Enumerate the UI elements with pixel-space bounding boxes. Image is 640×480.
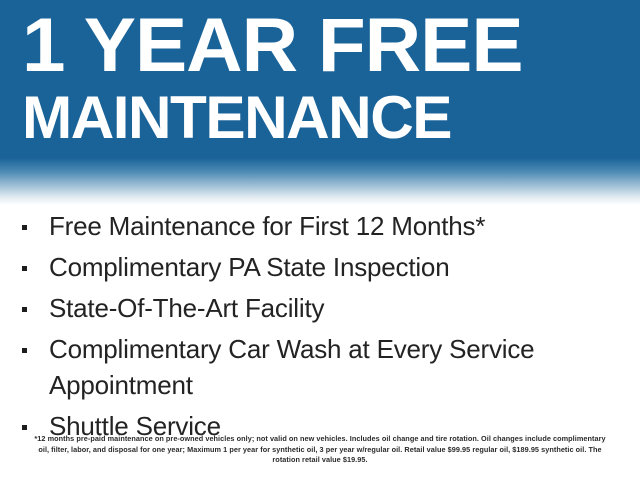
disclaimer-fine-print: *12 months pre-paid maintenance on pre-o…: [0, 434, 640, 466]
banner-headline: 1 YEAR FREE MAINTENANCE: [0, 8, 640, 152]
list-item: Complimentary Car Wash at Every Service …: [0, 331, 640, 403]
square-bullet-icon: [22, 425, 27, 430]
list-item: Free Maintenance for First 12 Months*: [0, 208, 640, 244]
list-item-label: Complimentary PA State Inspection: [49, 249, 630, 285]
square-bullet-icon: [22, 348, 27, 353]
headline-line-primary: 1 YEAR FREE: [22, 8, 640, 84]
list-item-label: Complimentary Car Wash at Every Service …: [49, 331, 630, 403]
benefits-list: Free Maintenance for First 12 Months* Co…: [0, 208, 640, 449]
list-item-label: State-Of-The-Art Facility: [49, 290, 630, 326]
list-item: Complimentary PA State Inspection: [0, 249, 640, 285]
headline-line-secondary: MAINTENANCE: [22, 84, 625, 152]
square-bullet-icon: [22, 225, 27, 230]
banner-gradient-fade: [0, 158, 640, 205]
square-bullet-icon: [22, 307, 27, 312]
list-item: State-Of-The-Art Facility: [0, 290, 640, 326]
list-item-label: Free Maintenance for First 12 Months*: [49, 208, 630, 244]
square-bullet-icon: [22, 266, 27, 271]
promo-banner: 1 YEAR FREE MAINTENANCE: [0, 0, 640, 205]
